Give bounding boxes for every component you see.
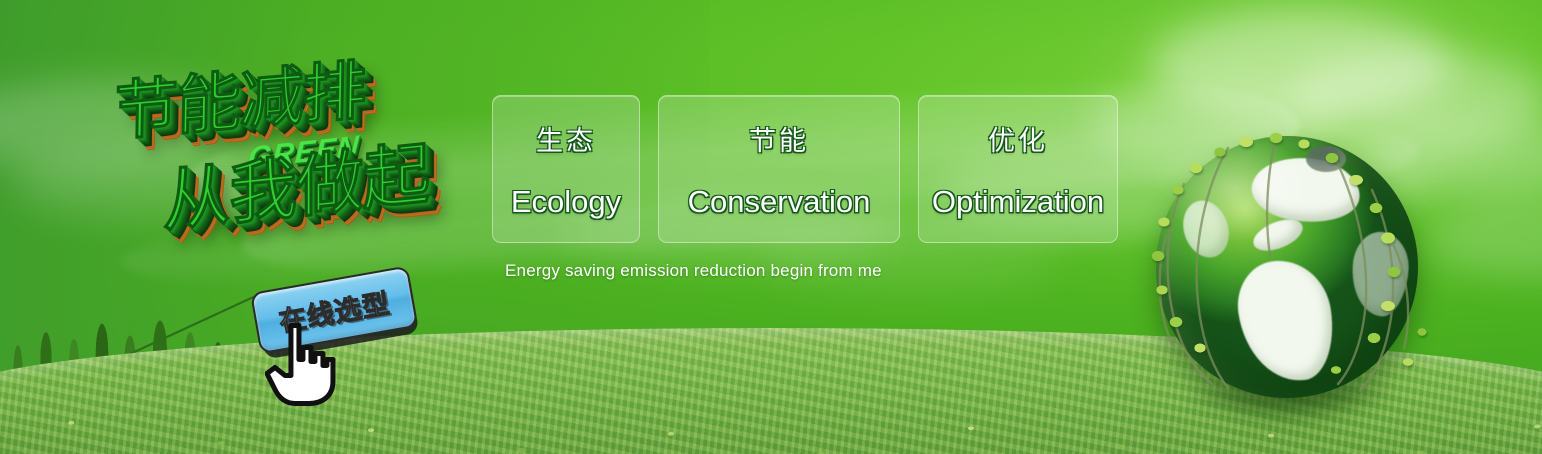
feature-card-list: 生态 Ecology 节能 Conservation 优化 Optimizati… [492,95,1118,243]
feature-card-title-cn: 节能 [749,119,809,158]
feature-card-title-en: Ecology [511,184,621,220]
feature-card-title-cn: 优化 [988,119,1048,158]
hero-banner: 节能减排 GREEN 从我做起 在线选型 生态 Ecology 节能 Conse… [0,0,1542,454]
tagline: Energy saving emission reduction begin f… [505,261,882,281]
headline-3d: 节能减排 GREEN 从我做起 [100,44,490,274]
feature-card-title-cn: 生态 [536,119,596,158]
pointing-hand-cursor-icon [265,319,337,407]
feature-card-optimization[interactable]: 优化 Optimization [918,95,1118,243]
feature-card-title-en: Conservation [688,184,871,220]
globe-highlight [1156,136,1418,398]
feature-card-ecology[interactable]: 生态 Ecology [492,95,640,243]
feature-card-conservation[interactable]: 节能 Conservation [658,95,900,243]
globe-sphere [1156,136,1418,398]
feature-card-title-en: Optimization [932,184,1104,220]
green-globe [1136,126,1436,426]
